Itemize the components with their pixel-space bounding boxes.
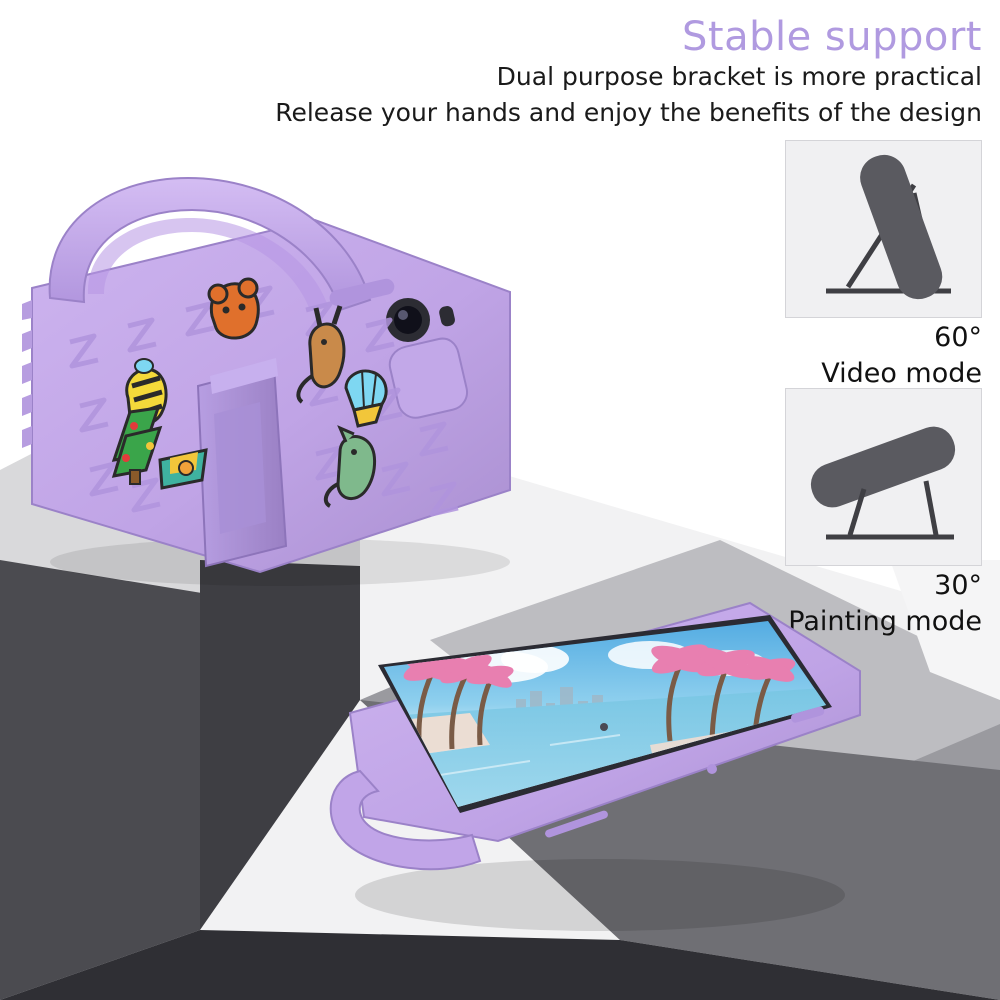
edge-bump [707, 764, 717, 774]
kickstand-steep-icon [786, 141, 981, 317]
product-infographic: Stable support Dual purpose bracket is m… [0, 0, 1000, 1000]
kickstand-shallow-icon [786, 389, 981, 565]
page-title: Stable support [682, 14, 982, 60]
video-mode-angle: 60° [785, 322, 982, 353]
fold-out-kickstand [198, 358, 286, 566]
subtitle-line-2: Release your hands and enjoy the benefit… [275, 98, 982, 127]
painting-mode-card [785, 388, 982, 566]
video-mode-label: Video mode [722, 358, 982, 389]
video-mode-card [785, 140, 982, 318]
tablet-case-front-view [320, 595, 880, 935]
bear-sticker [209, 279, 258, 338]
subtitle-line-1: Dual purpose bracket is more practical [497, 62, 982, 91]
tablet-case-back-view [10, 170, 540, 590]
front-camera-dot [600, 723, 608, 731]
